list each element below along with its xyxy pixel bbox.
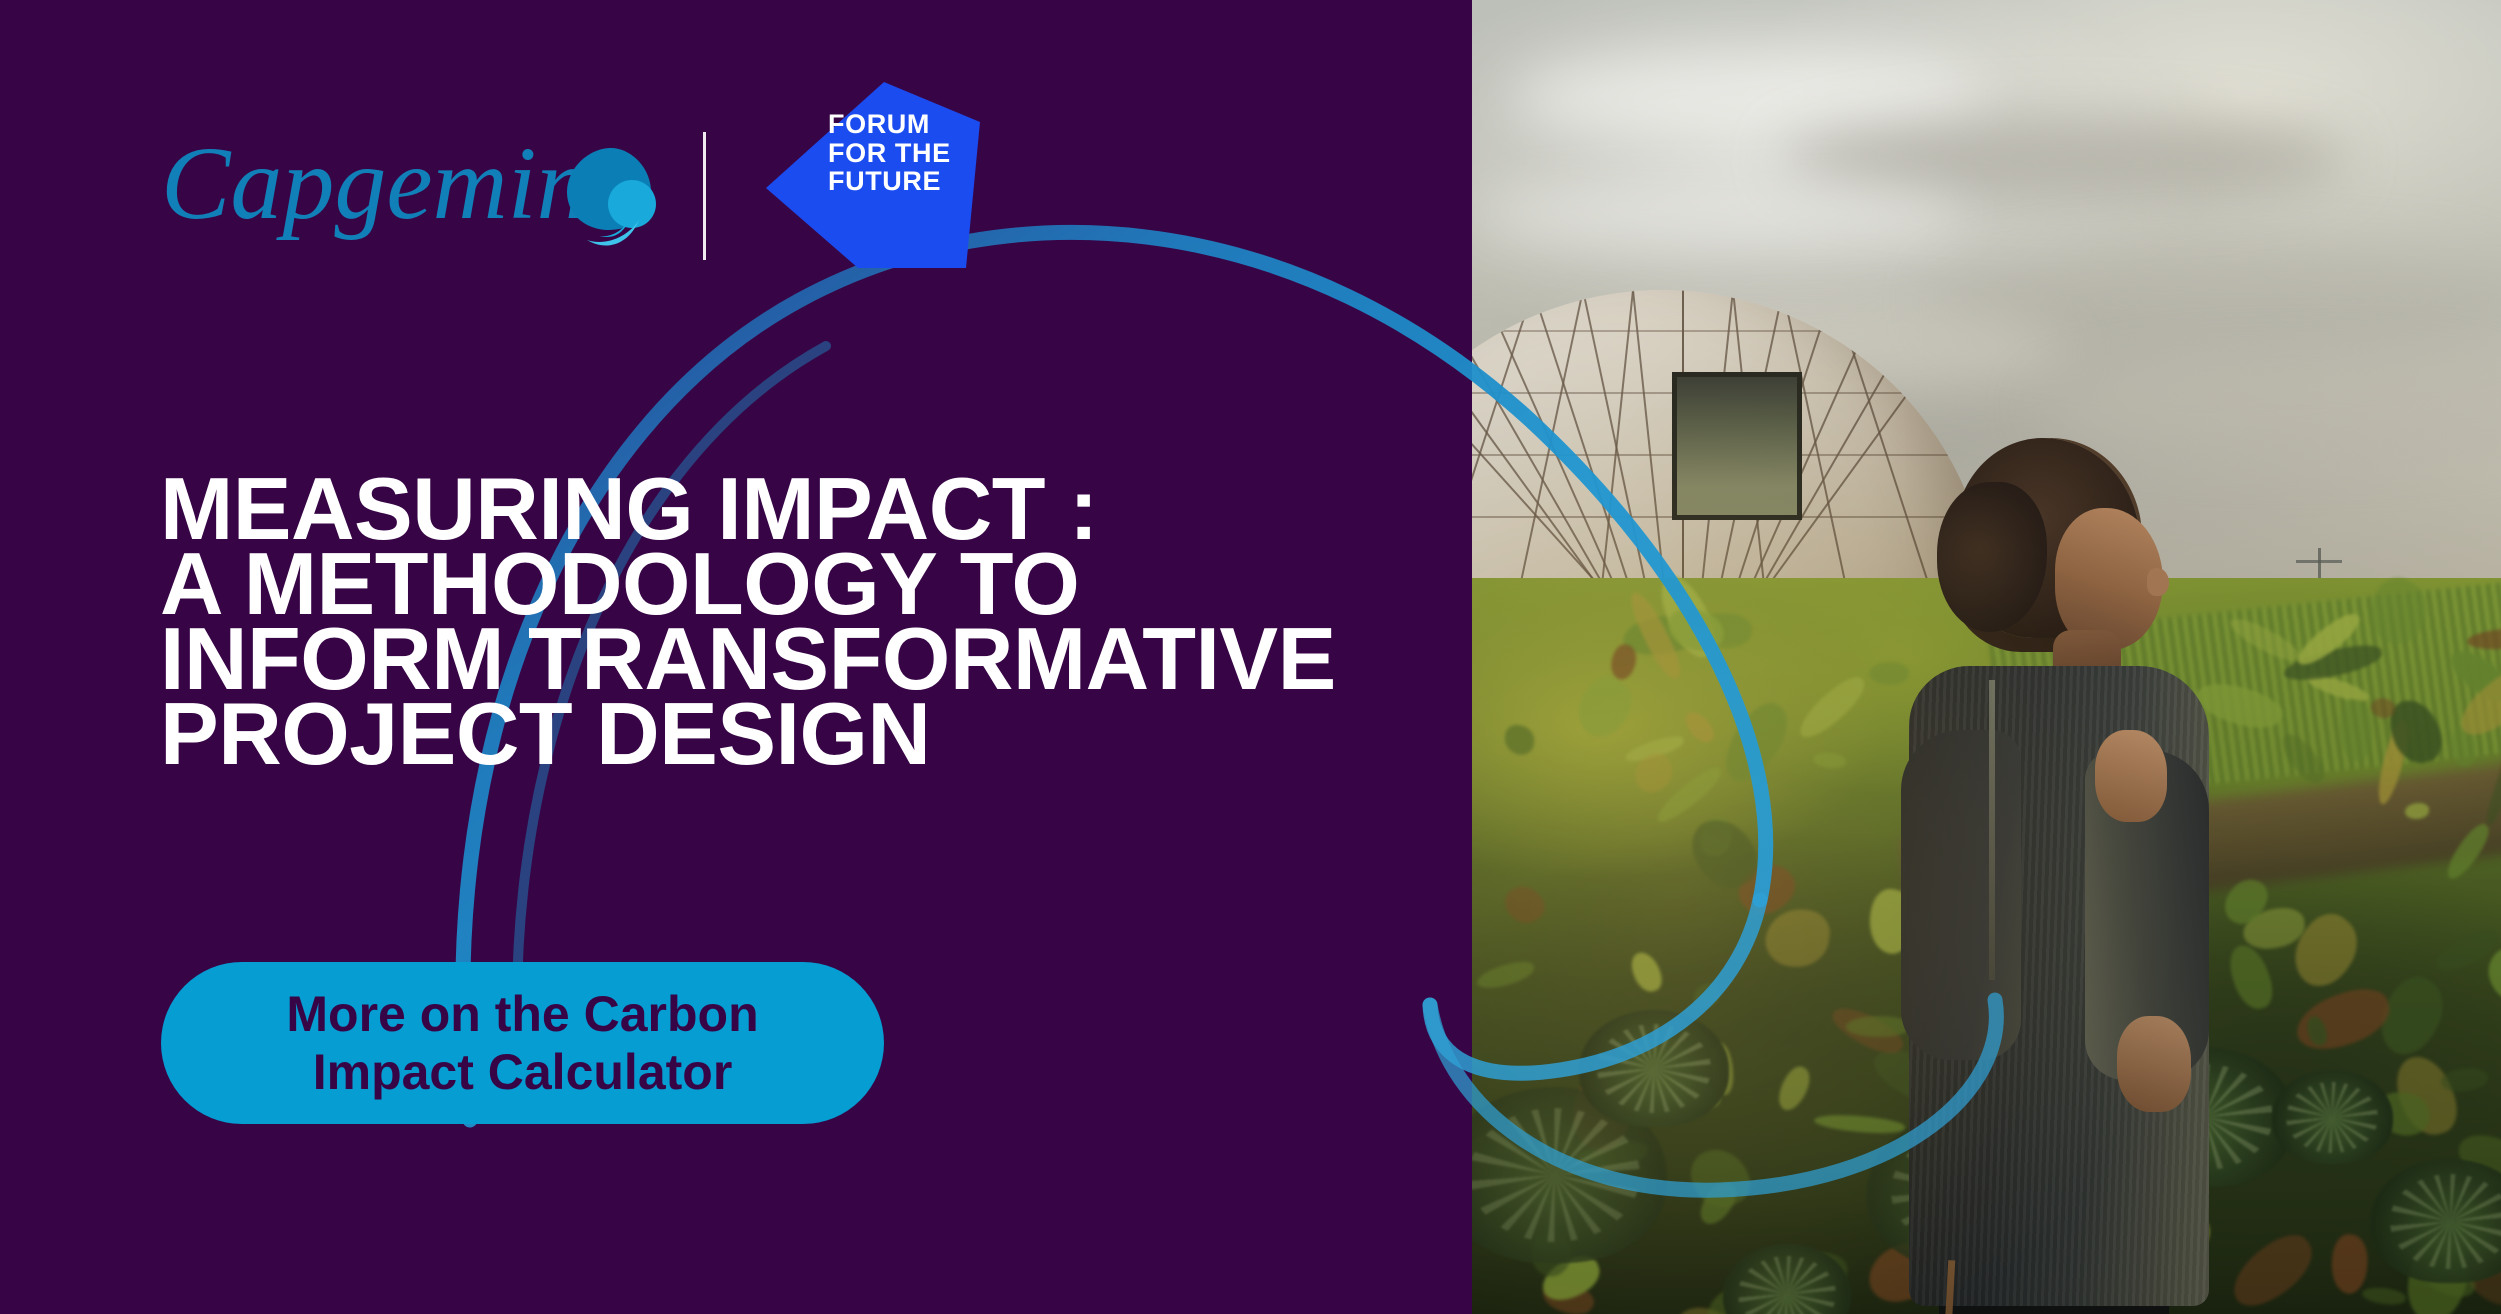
- carbon-impact-calculator-button[interactable]: More on the Carbon Impact Calculator: [161, 962, 884, 1124]
- forum-logo-text: FORUM FOR THE FUTURE: [828, 110, 978, 196]
- cardigan-zip: [1989, 680, 1995, 980]
- dome-door: [1672, 372, 1802, 520]
- forum-logo-line2: FOR THE: [828, 139, 978, 168]
- nose: [2147, 568, 2169, 596]
- forum-logo-line1: FORUM: [828, 110, 978, 139]
- logo-divider: [703, 132, 706, 260]
- hero-photo: [1472, 0, 2501, 1314]
- forum-logo-line3: FUTURE: [828, 167, 978, 196]
- capgemini-wordmark: Capgemini: [161, 130, 617, 241]
- cta-label: More on the Carbon Impact Calculator: [286, 985, 758, 1101]
- page-title: MEASURING IMPACT : A METHODOLOGY TO INFO…: [160, 471, 1490, 771]
- promo-banner: Capgemini FORUM FOR THE FUTURE MEASURING…: [0, 0, 2501, 1314]
- upper-hand: [2095, 730, 2167, 822]
- cloud: [1472, 179, 1966, 252]
- lower-hand: [2117, 1016, 2191, 1112]
- woman-gardener: [1817, 430, 2237, 1314]
- capgemini-logo[interactable]: Capgemini: [161, 130, 661, 250]
- left-arm: [1901, 730, 2021, 1060]
